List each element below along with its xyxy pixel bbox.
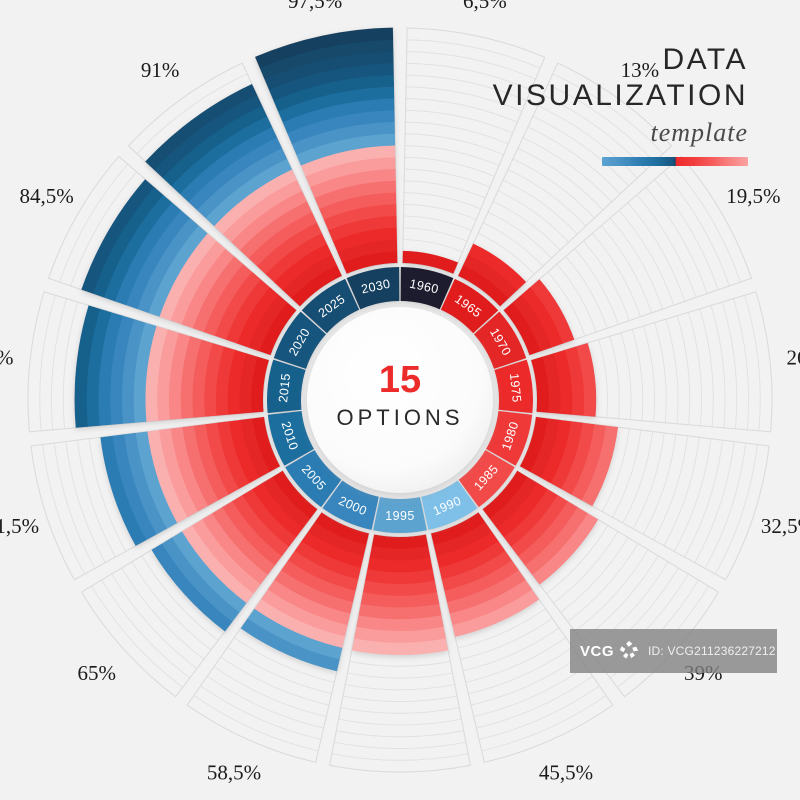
- percentage-label: 71,5%: [0, 514, 39, 538]
- percentage-label: 39%: [684, 661, 723, 685]
- grid-arc: [187, 695, 318, 762]
- grid-arc: [688, 309, 713, 427]
- grid-arc: [654, 436, 700, 546]
- grid-arc: [596, 568, 688, 669]
- grid-arc: [406, 63, 531, 100]
- grid-arc: [51, 299, 77, 430]
- grid-arc: [674, 439, 722, 557]
- grid-arc: [54, 442, 105, 569]
- grid-arc: [664, 437, 711, 551]
- grid-arc: [513, 148, 603, 218]
- grid-arc: [404, 157, 494, 187]
- grid-arc: [610, 333, 631, 420]
- grid-arc: [619, 203, 685, 306]
- grid-arc: [406, 52, 535, 90]
- grid-arc: [405, 122, 508, 155]
- percentage-label: 97,5%: [288, 0, 342, 13]
- percentage-label: 45,5%: [539, 761, 593, 785]
- grid-arc: [685, 440, 735, 563]
- grid-arc: [548, 74, 663, 162]
- grid-arc: [463, 628, 566, 682]
- grid-arc: [628, 195, 696, 301]
- grid-arc: [610, 210, 674, 309]
- percentage-label: 19,5%: [726, 184, 780, 208]
- grid-arc: [655, 319, 678, 424]
- grid-arc: [633, 433, 676, 534]
- percentage-label: 26%: [787, 345, 800, 369]
- grid-arc: [722, 299, 748, 430]
- center-number: 15: [379, 359, 421, 401]
- percentage-label: 13%: [621, 58, 660, 82]
- grid-arc: [592, 226, 651, 317]
- grid-arc: [479, 686, 606, 751]
- grid-arc: [677, 312, 701, 425]
- grid-arc: [474, 667, 593, 728]
- percentage-label: 52%: [381, 796, 420, 800]
- grid-arc: [646, 180, 719, 294]
- grid-arc: [407, 28, 545, 68]
- grid-arc: [471, 657, 586, 717]
- grid-arc: [543, 84, 655, 169]
- grid-arc: [405, 146, 499, 177]
- grid-arc: [705, 443, 757, 574]
- grid-arc: [637, 187, 707, 297]
- grid-arc: [533, 106, 637, 186]
- infographic-canvas: 15 OPTIONS 19601965197019751980198519901…: [0, 0, 800, 800]
- grid-arc: [632, 326, 654, 422]
- grid-arc: [332, 742, 468, 760]
- grid-arc: [482, 695, 613, 762]
- grid-arc: [40, 295, 67, 430]
- grid-arc: [695, 442, 746, 569]
- radial-chart: 15 OPTIONS 19601965197019751980198519901…: [0, 0, 800, 800]
- percentage-label: 58,5%: [207, 761, 261, 785]
- grid-arc: [711, 302, 737, 429]
- grid-arc: [405, 134, 504, 166]
- grid-arc: [582, 556, 668, 650]
- grid-arc: [644, 323, 667, 423]
- grid-arc: [566, 249, 619, 329]
- grid-arc: [468, 647, 579, 705]
- percentage-label: 91%: [141, 58, 180, 82]
- grid-arc: [745, 292, 772, 432]
- grid-arc: [207, 667, 326, 728]
- grid-arc: [621, 329, 643, 420]
- grid-arc: [518, 138, 612, 210]
- percentage-label: 6,5%: [463, 0, 507, 13]
- percentage-label: 32,5%: [761, 514, 800, 538]
- grid-arc: [575, 241, 630, 324]
- grid-arc: [28, 292, 55, 432]
- grid-arc: [214, 657, 329, 717]
- center-label: OPTIONS: [336, 405, 463, 430]
- grid-arc: [599, 336, 620, 418]
- grid-arc: [488, 201, 560, 258]
- grid-arc: [700, 306, 725, 428]
- grid-arc: [666, 316, 690, 425]
- grid-arc: [508, 159, 594, 226]
- grid-arc: [498, 180, 577, 242]
- chart-wedge[interactable]: [531, 343, 596, 417]
- grid-arc: [407, 40, 540, 79]
- grid-arc: [601, 218, 662, 313]
- grid-arc: [194, 686, 321, 751]
- grid-arc: [613, 430, 653, 523]
- percentage-label: 84,5%: [20, 184, 74, 208]
- grid-arc: [476, 676, 599, 739]
- chart-wedge[interactable]: [352, 535, 448, 655]
- percentage-label: 78%: [0, 345, 13, 369]
- grid-arc: [201, 676, 324, 739]
- grid-arc: [404, 169, 490, 198]
- grid-arc: [503, 170, 586, 235]
- grid-arc: [733, 295, 760, 430]
- year-label: 1995: [385, 509, 414, 523]
- grid-arc: [643, 434, 687, 540]
- grid-arc: [43, 443, 95, 574]
- percentage-label: 65%: [78, 661, 117, 685]
